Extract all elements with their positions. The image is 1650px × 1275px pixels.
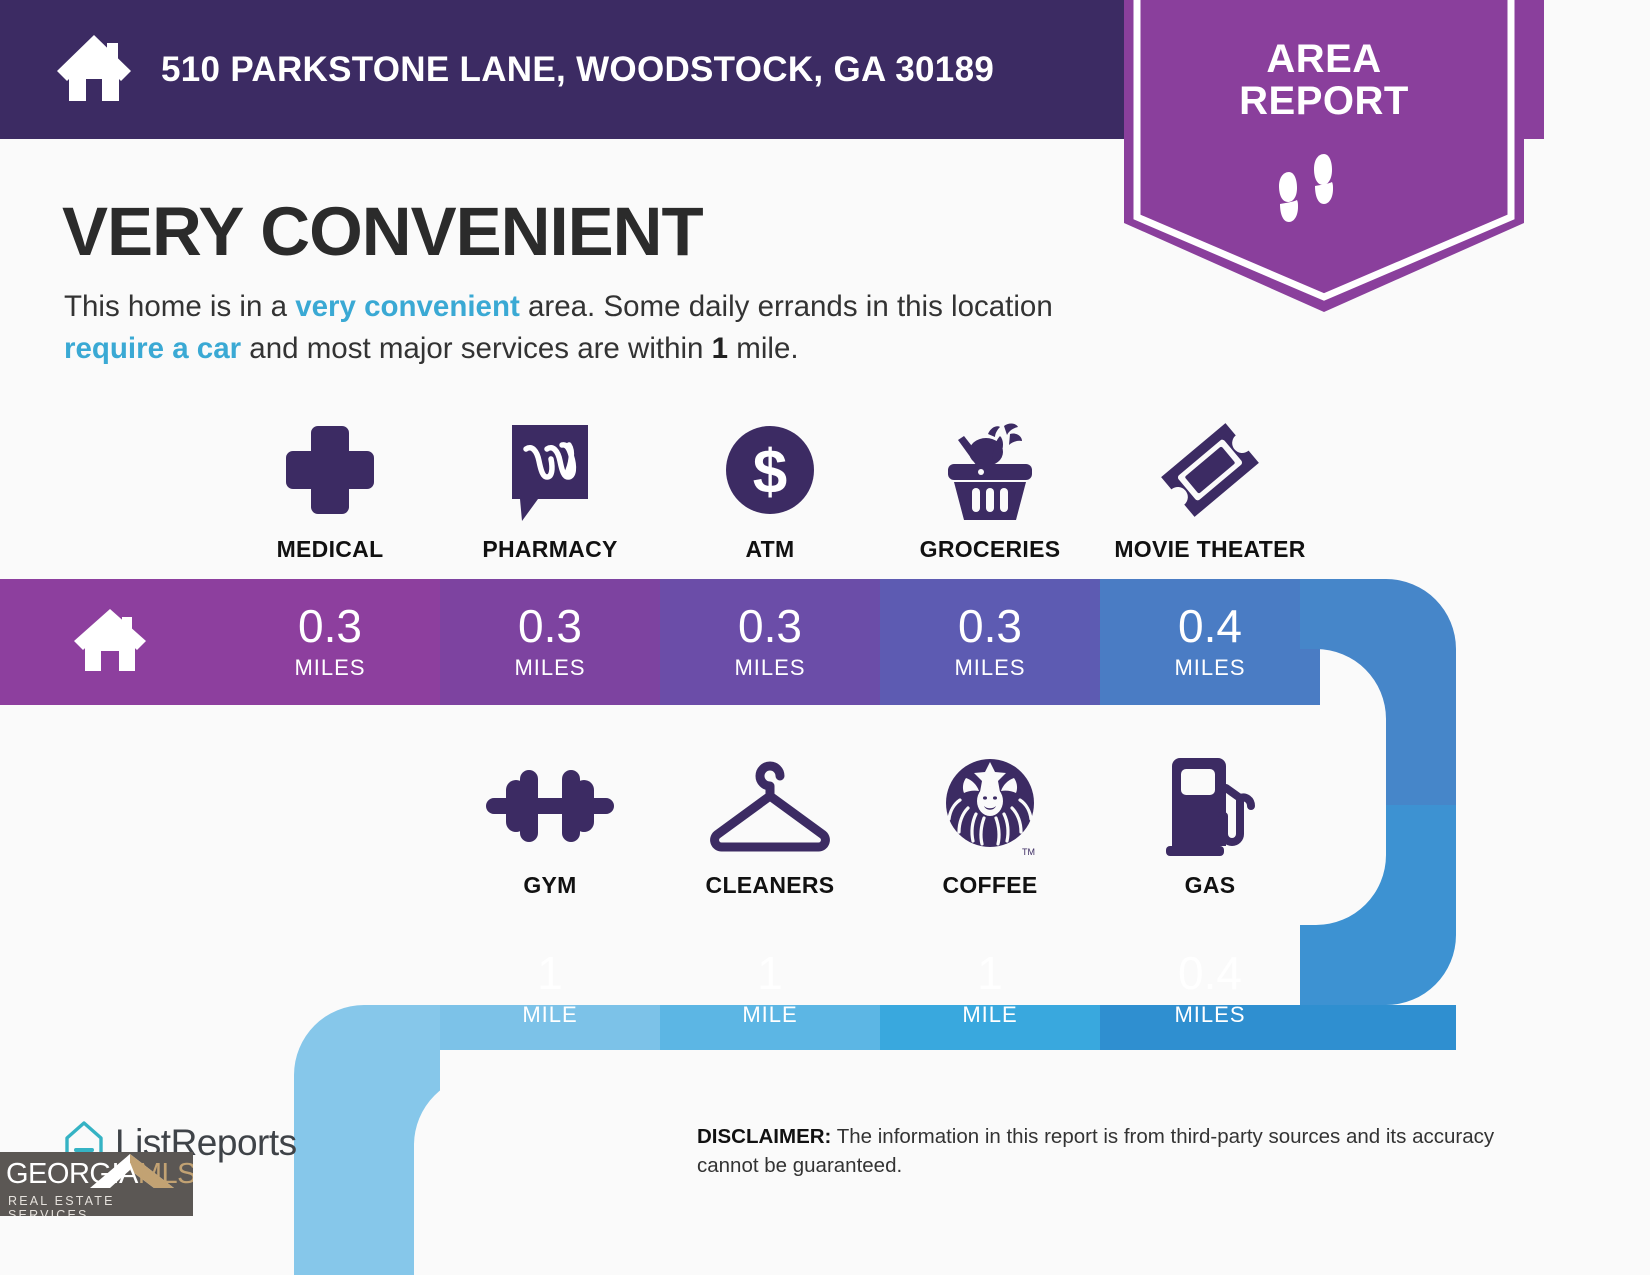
- walgreens-pharmacy-icon: [502, 416, 598, 524]
- service-label: GYM: [523, 872, 576, 899]
- service-icon-row-1: MEDICAL PHARMACY $: [220, 416, 1320, 563]
- distance-cell-cleaners: 1 MILE: [660, 928, 880, 1050]
- service-item-movie-theater[interactable]: MOVIE THEATER: [1100, 416, 1320, 563]
- distance-cell-movie-theater: 0.4 MILES: [1100, 579, 1320, 705]
- desc-part-2: area. Some daily errands in this locatio…: [520, 290, 1053, 323]
- gas-pump-icon: [1158, 752, 1262, 860]
- service-item-cleaners[interactable]: CLEANERS: [660, 752, 880, 899]
- ribbon-line-1: AREA: [1124, 38, 1524, 80]
- property-address: 510 PARKSTONE LANE, WOODSTOCK, GA 30189: [161, 50, 994, 90]
- gamls-tagline: REAL ESTATE SERVICES: [8, 1194, 193, 1216]
- distance-unit: MILE: [522, 1002, 577, 1028]
- desc-highlight-1: very convenient: [295, 290, 520, 323]
- distance-value: 1: [757, 950, 783, 996]
- distance-row-1: 0.3 MILES 0.3 MILES 0.3 MILES 0.3 MILES …: [220, 579, 1320, 705]
- georgia-mls-watermark: GEORGIAMLS REAL ESTATE SERVICES: [0, 1152, 193, 1216]
- service-label: PHARMACY: [482, 536, 617, 563]
- distance-cell-medical: 0.3 MILES: [220, 579, 440, 705]
- dumbbell-icon: [482, 752, 618, 860]
- distance-row-2: 1 MILE 1 MILE 1 MILE 0.4 MILES: [440, 928, 1320, 1050]
- home-marker-cell: [0, 579, 220, 705]
- desc-highlight-3: 1: [712, 332, 728, 365]
- gamls-name: GEORGIAMLS: [6, 1158, 193, 1191]
- area-report-page: 510 PARKSTONE LANE, WOODSTOCK, GA 30189 …: [0, 0, 1650, 1275]
- distance-unit: MILES: [294, 655, 365, 681]
- gamls-georgia: GEORGIA: [6, 1158, 138, 1190]
- ribbon-title: AREA REPORT: [1124, 38, 1524, 123]
- service-item-atm[interactable]: $ ATM: [660, 416, 880, 563]
- distance-cell-gym: 1 MILE: [440, 928, 660, 1050]
- service-label: MEDICAL: [277, 536, 384, 563]
- desc-part-3: and most major services are within: [241, 332, 712, 365]
- header-bar: 510 PARKSTONE LANE, WOODSTOCK, GA 30189: [0, 0, 1205, 139]
- service-label: MOVIE THEATER: [1114, 536, 1305, 563]
- grocery-basket-icon: [934, 416, 1046, 524]
- starbucks-coffee-icon: TM: [940, 752, 1040, 860]
- distance-value: 1: [977, 950, 1003, 996]
- svg-text:$: $: [753, 438, 787, 507]
- disclaimer-label: DISCLAIMER:: [697, 1125, 831, 1148]
- service-item-groceries[interactable]: GROCERIES: [880, 416, 1100, 563]
- header-right-strip: [1524, 0, 1544, 139]
- service-label: COFFEE: [942, 872, 1037, 899]
- disclaimer: DISCLAIMER: The information in this repo…: [697, 1122, 1517, 1180]
- distance-value: 0.3: [738, 603, 802, 649]
- distance-unit: MILES: [514, 655, 585, 681]
- footprints-icon: [1124, 146, 1524, 234]
- distance-value: 0.4: [1178, 950, 1242, 996]
- desc-highlight-2: require a car: [64, 332, 241, 365]
- distance-unit: MILE: [742, 1002, 797, 1028]
- distance-unit: MILES: [1174, 1002, 1245, 1028]
- service-item-medical[interactable]: MEDICAL: [220, 416, 440, 563]
- home-icon: [55, 31, 133, 108]
- description-text: This home is in a very convenient area. …: [64, 286, 1109, 370]
- distance-value: 0.3: [958, 603, 1022, 649]
- clothes-hanger-icon: [702, 752, 838, 860]
- service-label: GAS: [1185, 872, 1236, 899]
- movie-ticket-icon: [1158, 416, 1262, 524]
- distance-value: 0.4: [1178, 603, 1242, 649]
- desc-part-4: mile.: [728, 332, 798, 365]
- service-icon-row-2: GYM CLEANERS: [440, 752, 1320, 899]
- distance-unit: MILE: [962, 1002, 1017, 1028]
- distance-cell-atm: 0.3 MILES: [660, 579, 880, 705]
- distance-cell-pharmacy: 0.3 MILES: [440, 579, 660, 705]
- desc-part-1: This home is in a: [64, 290, 295, 323]
- area-report-ribbon: AREA REPORT: [1124, 0, 1524, 312]
- distance-value: 0.3: [518, 603, 582, 649]
- svg-text:TM: TM: [1022, 847, 1035, 857]
- gamls-mls: MLS: [138, 1158, 193, 1190]
- service-item-pharmacy[interactable]: PHARMACY: [440, 416, 660, 563]
- service-label: GROCERIES: [920, 536, 1061, 563]
- distance-cell-groceries: 0.3 MILES: [880, 579, 1100, 705]
- service-item-gas[interactable]: GAS: [1100, 752, 1320, 899]
- distance-value: 0.3: [298, 603, 362, 649]
- atm-dollar-icon: $: [720, 416, 820, 524]
- medical-cross-icon: [279, 416, 381, 524]
- service-label: CLEANERS: [706, 872, 835, 899]
- distance-cell-coffee: 1 MILE: [880, 928, 1100, 1050]
- distance-cell-gas: 0.4 MILES: [1100, 928, 1320, 1050]
- ribbon-line-2: REPORT: [1124, 80, 1524, 122]
- page-title: VERY CONVENIENT: [62, 192, 703, 271]
- service-item-coffee[interactable]: TM COFFEE: [880, 752, 1100, 899]
- home-icon: [72, 607, 148, 678]
- distance-value: 1: [537, 950, 563, 996]
- distance-unit: MILES: [734, 655, 805, 681]
- distance-unit: MILES: [1174, 655, 1245, 681]
- service-label: ATM: [745, 536, 794, 563]
- distance-unit: MILES: [954, 655, 1025, 681]
- service-item-gym[interactable]: GYM: [440, 752, 660, 899]
